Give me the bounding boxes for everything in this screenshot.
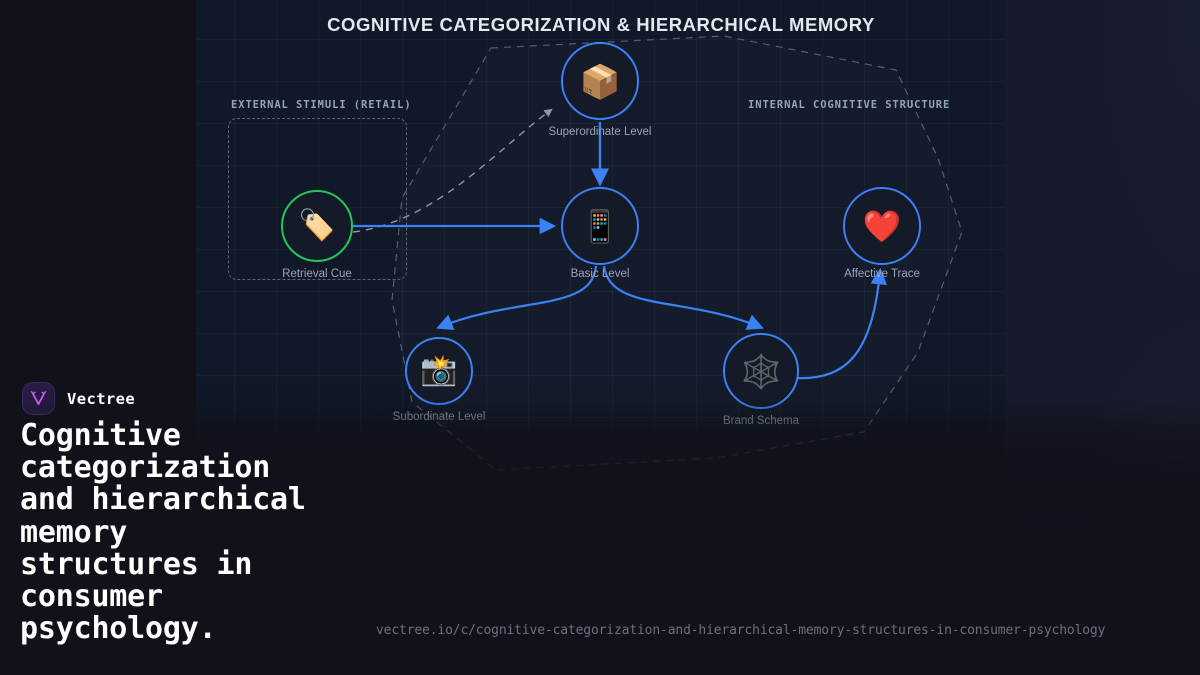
diagram-title: COGNITIVE CATEGORIZATION & HIERARCHICAL … [196,14,1006,36]
node-ring: 📱 [561,187,639,265]
node-label: Retrieval Cue [282,268,352,280]
mobile-phone-icon: 📱 [581,211,620,242]
node-label: Superordinate Level [549,126,652,138]
vectree-glyph [29,389,48,408]
camera-flash-icon: 📸 [420,356,457,386]
vectree-logo-icon [22,382,55,415]
spider-web-icon: 🕸️ [740,355,781,388]
node-ring: ❤️ [843,187,921,265]
node-label: Basic Level [571,268,630,280]
page-title: Cognitive categorization and hierarchica… [20,420,440,645]
package-box-icon: 📦 [579,65,620,98]
label-tag-icon: 🏷️ [298,211,335,241]
right-background-panel [1005,0,1200,675]
node-ring: 🏷️ [281,190,353,262]
brand-name: Vectree [67,390,135,408]
brand-lockup: Vectree [22,382,135,415]
node-retrieval-cue[interactable]: 🏷️ Retrieval Cue [281,190,353,262]
region-label-internal: INTERNAL COGNITIVE STRUCTURE [748,99,950,111]
red-heart-icon: ❤️ [863,211,902,242]
node-ring: 📸 [405,337,473,405]
node-brand-schema[interactable]: 🕸️ Brand Schema [723,333,799,409]
region-label-external: EXTERNAL STIMULI (RETAIL) [231,99,412,111]
node-label: Affective Trace [844,268,920,280]
node-affective-trace[interactable]: ❤️ Affective Trace [843,187,921,265]
article-url: vectree.io/c/cognitive-categorization-an… [376,623,1105,638]
node-superordinate-level[interactable]: 📦 Superordinate Level [561,42,639,120]
node-label: Brand Schema [723,415,799,427]
node-ring: 📦 [561,42,639,120]
node-ring: 🕸️ [723,333,799,409]
node-subordinate-level[interactable]: 📸 Subordinate Level [405,337,473,405]
node-basic-level[interactable]: 📱 Basic Level [561,187,639,265]
